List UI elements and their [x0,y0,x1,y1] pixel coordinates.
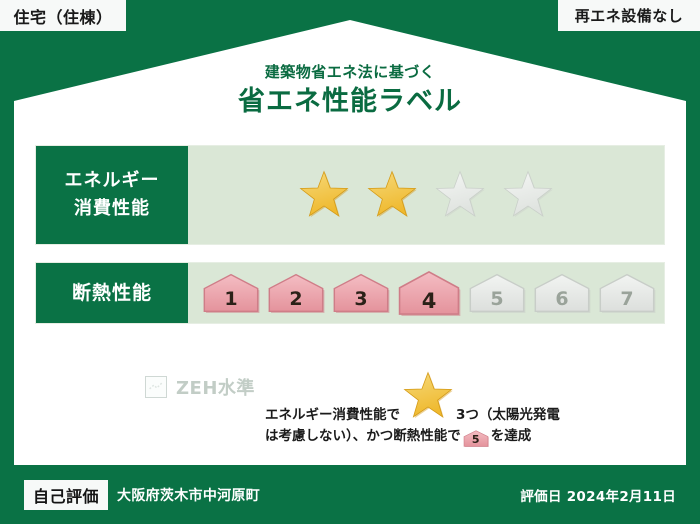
star-icon-empty [501,169,555,221]
insulation-rank-value: 2 [289,288,302,310]
energy-performance-label: 住宅（住棟） 再エネ設備なし 建築物省エネ法に基づく 省エネ性能ラベル エネルギ… [0,0,700,524]
title-subtitle: 建築物省エネ法に基づく [0,62,700,82]
insulation-rank-2: 2 [267,273,325,313]
insulation-rank-1: 1 [202,273,260,313]
zeh-required-rank-badge: 5 [463,430,489,447]
star-icon-empty [433,169,487,221]
building-address: 大阪府茨木市中河原町 [117,485,260,505]
star-icon [401,370,455,422]
zeh-checkbox-icon [145,376,167,398]
insulation-rank-value: 1 [224,288,237,310]
renewable-equipment-tab: 再エネ設備なし [558,0,700,31]
insulation-rank-value: 7 [620,288,633,310]
zeh-section: ZEH水準 エネルギー消費性能で3つ（太陽光発電 は考慮しない）、かつ断熱性能で… [35,368,665,430]
label-title: 建築物省エネ法に基づく 省エネ性能ラベル [0,62,700,120]
energy-performance-row: エネルギー 消費性能 [35,145,665,245]
zeh-mark: ZEH水準 [35,368,265,400]
zeh-label: ZEH水準 [176,374,255,400]
insulation-rank-value: 6 [555,288,568,310]
star-icon-filled [297,169,351,221]
zeh-desc-star-count: 3つ（太陽光発電 [456,407,560,423]
insulation-rank-value: 5 [490,288,503,310]
insulation-rank-4: 4 [397,270,461,316]
zeh-desc-part2: は考慮しない）、かつ断熱性能で [265,428,461,444]
zeh-desc-part3: を達成 [491,428,532,444]
insulation-performance-row: 断熱性能 1234567 [35,262,665,324]
energy-label-line1: エネルギー [65,167,160,195]
insulation-rank-value: 3 [354,288,367,310]
zeh-description: エネルギー消費性能で3つ（太陽光発電 は考慮しない）、かつ断熱性能で5を達成 [265,368,665,447]
energy-label-line2: 消費性能 [74,195,150,223]
label-footer: 自己評価 大阪府茨木市中河原町 評価日 2024年2月11日 [0,466,700,524]
star-icon-filled [365,169,419,221]
insulation-label-text: 断熱性能 [72,281,152,305]
title-main: 省エネ性能ラベル [0,84,700,120]
zeh-desc-part1: エネルギー消費性能で [265,407,400,423]
insulation-rank-7: 7 [598,273,656,313]
insulation-rank-value: 4 [422,289,437,313]
energy-performance-label: エネルギー 消費性能 [36,146,188,244]
insulation-rank-3: 3 [332,273,390,313]
building-type-tab: 住宅（住棟） [0,0,126,31]
insulation-rank-scale: 1234567 [188,263,664,323]
insulation-rank-6: 6 [533,273,591,313]
insulation-performance-label: 断熱性能 [36,263,188,323]
evaluation-type-badge: 自己評価 [24,480,108,510]
zeh-required-rank-value: 5 [463,430,489,449]
insulation-rank-5: 5 [468,273,526,313]
evaluation-date: 評価日 2024年2月11日 [520,485,676,505]
star-rating [188,146,664,244]
